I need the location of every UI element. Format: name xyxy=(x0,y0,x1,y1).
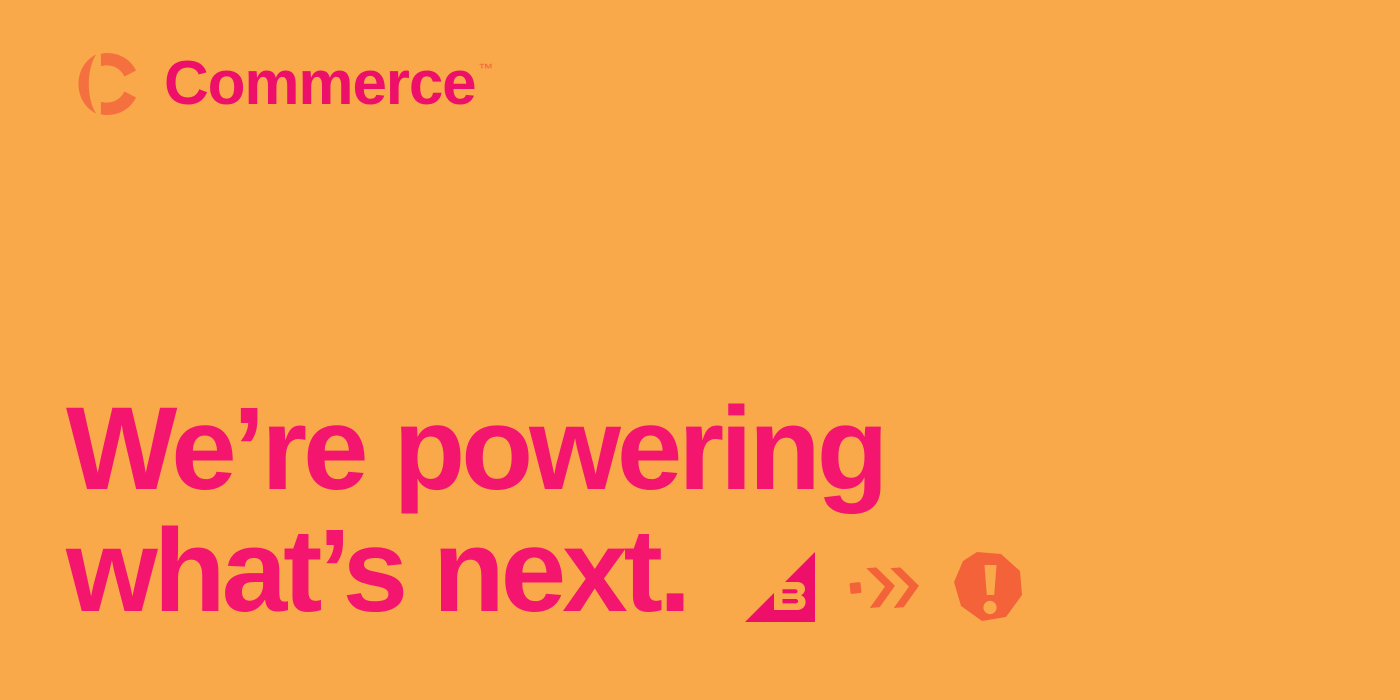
double-chevron-forward-icon[interactable] xyxy=(847,550,921,624)
hero-banner: Commerce ™ We’re powering what’s next. xyxy=(0,0,1400,700)
headline-block: We’re powering what’s next. xyxy=(66,388,1356,632)
octagon-exclamation-icon[interactable] xyxy=(949,548,1027,626)
icon-row xyxy=(741,548,1027,626)
brand-wordmark-group: Commerce ™ xyxy=(164,48,494,120)
brand-wordmark: Commerce xyxy=(164,48,476,120)
headline-line-1: We’re powering xyxy=(66,388,1356,510)
headline-highlighted-text: what’s next. xyxy=(60,510,695,632)
bigcommerce-logo-icon[interactable] xyxy=(741,548,819,626)
trademark-symbol: ™ xyxy=(479,62,494,77)
brand-lockup[interactable]: Commerce ™ xyxy=(66,48,494,120)
commerce-c-mark-icon xyxy=(66,48,142,120)
headline-line-2: what’s next. xyxy=(66,510,1356,632)
